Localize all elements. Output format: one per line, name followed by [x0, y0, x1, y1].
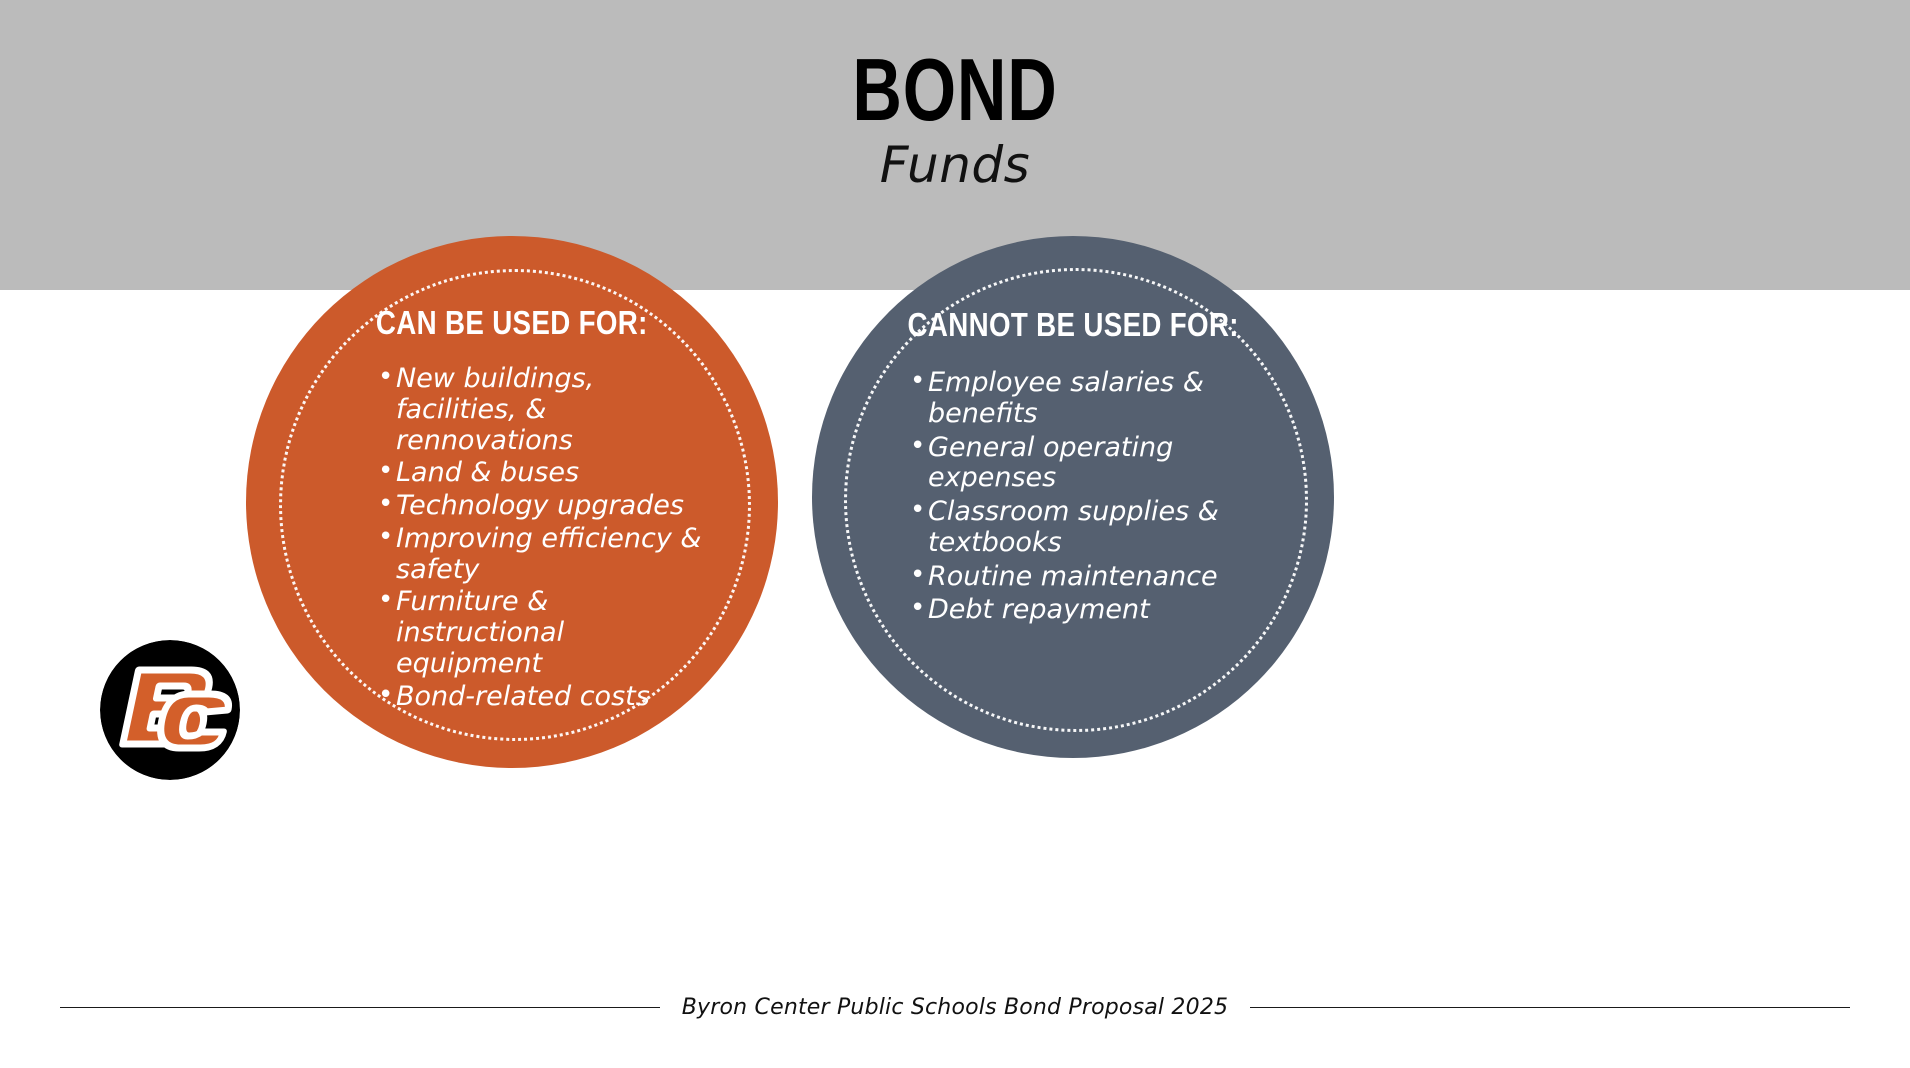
bubble-cannot-be-used: CANNOT BE USED FOR: Employee salaries & …	[812, 236, 1334, 758]
slide-canvas: BOND Funds CAN BE USED FOR: New building…	[0, 0, 1910, 1068]
title-block: BOND Funds	[0, 48, 1910, 193]
list-item: Classroom supplies & textbooks	[910, 497, 1298, 559]
list-item: General operating expenses	[910, 433, 1298, 495]
footer: Byron Center Public Schools Bond Proposa…	[0, 995, 1910, 1020]
bubble-can-heading: CAN BE USED FOR:	[376, 304, 648, 342]
footer-rule-left	[60, 1007, 660, 1008]
list-item: Technology upgrades	[378, 491, 708, 522]
list-item: New buildings, facilities, & rennovation…	[378, 364, 708, 456]
page-title: BOND	[210, 48, 1700, 132]
list-item: Land & buses	[378, 458, 708, 489]
byron-center-bc-logo-icon	[96, 636, 244, 784]
page-subtitle: Funds	[0, 138, 1910, 193]
list-item: Debt repayment	[910, 595, 1298, 626]
bubble-can-be-used: CAN BE USED FOR: New buildings, faciliti…	[246, 236, 778, 768]
footer-text: Byron Center Public Schools Bond Proposa…	[682, 995, 1228, 1020]
list-item: Improving efficiency & safety	[378, 524, 708, 586]
bubble-cannot-heading: CANNOT BE USED FOR:	[907, 306, 1238, 344]
bubble-cannot-content: CANNOT BE USED FOR: Employee salaries & …	[812, 236, 1334, 758]
list-item: Bond-related costs	[378, 682, 708, 713]
list-item: Routine maintenance	[910, 562, 1298, 593]
footer-rule-right	[1250, 1007, 1850, 1008]
list-item: Employee salaries & benefits	[910, 368, 1298, 430]
bubble-can-list: New buildings, facilities, & rennovation…	[316, 364, 708, 714]
bubble-can-content: CAN BE USED FOR: New buildings, faciliti…	[246, 236, 778, 768]
list-item: Furniture & instructional equipment	[378, 587, 708, 679]
bubble-cannot-list: Employee salaries & benefits General ope…	[848, 368, 1298, 629]
